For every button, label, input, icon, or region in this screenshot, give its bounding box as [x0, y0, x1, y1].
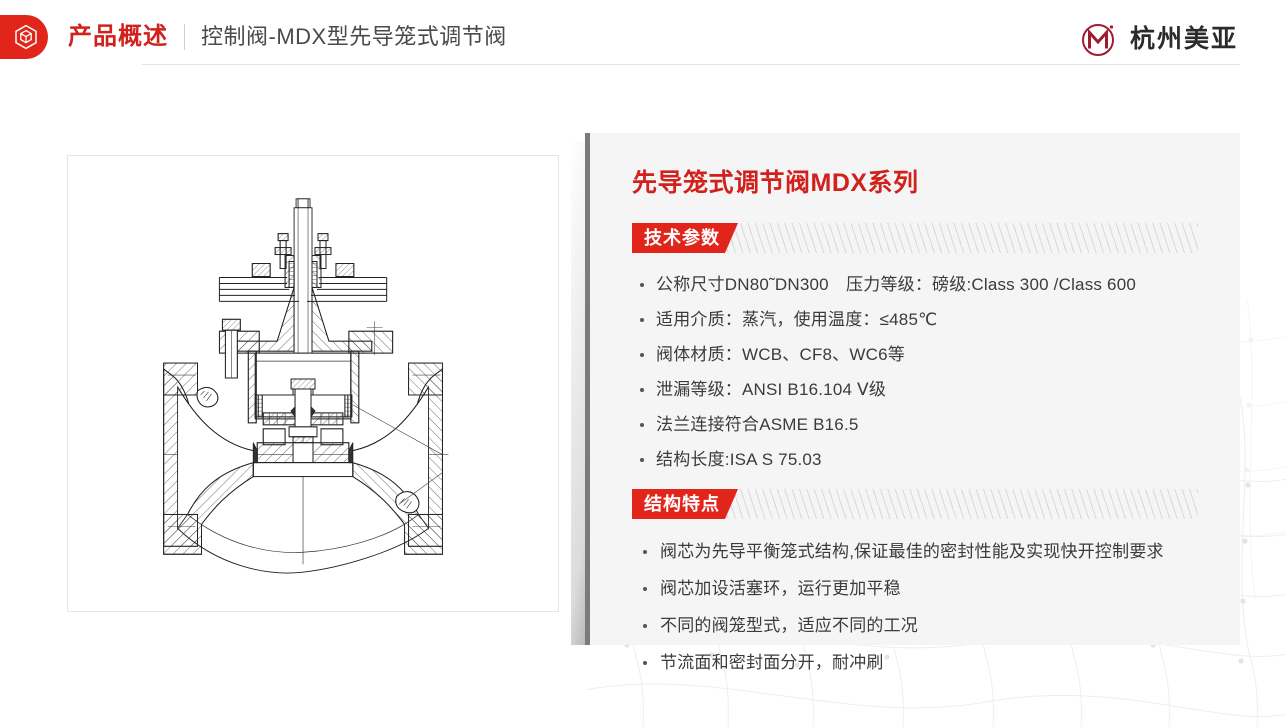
header-rule	[142, 64, 1240, 65]
spec-panel: 先导笼式调节阀MDX系列 技术参数 公称尺寸DN80˜DN300 压力等级：磅级…	[590, 133, 1240, 645]
section-gap	[632, 477, 1240, 489]
list-item: 阀芯加设活塞环，运行更加平稳	[632, 570, 1240, 607]
list-item: 泄漏等级：ANSI B16.104 Ⅴ级	[632, 372, 1240, 407]
list-item: 公称尺寸DN80˜DN300 压力等级：磅级:Class 300 /Class …	[632, 267, 1240, 302]
section-header-technical: 技术参数	[632, 223, 1240, 253]
header-title-group: 产品概述 控制阀-MDX型先导笼式调节阀	[68, 18, 507, 56]
section-header-features: 结构特点	[632, 489, 1240, 519]
technical-spec-list: 公称尺寸DN80˜DN300 压力等级：磅级:Class 300 /Class …	[632, 267, 1240, 477]
list-item: 阀体材质：WCB、CF8、WC6等	[632, 337, 1240, 372]
header-divider	[184, 24, 185, 50]
list-item: 适用介质：蒸汽，使用温度：≤485℃	[632, 302, 1240, 337]
cube-hexagon-icon	[13, 24, 39, 50]
structure-feature-list: 阀芯为先导平衡笼式结构,保证最佳的密封性能及实现快开控制要求 阀芯加设活塞环，运…	[632, 533, 1240, 681]
brand-logo-group: 杭州美亚	[1078, 20, 1238, 58]
brand-name: 杭州美亚	[1130, 20, 1238, 58]
section-tag-features: 结构特点	[632, 489, 738, 519]
section-tag-technical: 技术参数	[632, 223, 738, 253]
page-subtitle: 控制阀-MDX型先导笼式调节阀	[201, 18, 507, 56]
panel-accent-bar	[585, 133, 590, 645]
list-item: 法兰连接符合ASME B16.5	[632, 407, 1240, 442]
panel-title: 先导笼式调节阀MDX系列	[632, 163, 1240, 199]
meiya-m-circle-logo	[1078, 18, 1120, 60]
valve-drawing-frame	[67, 155, 559, 612]
header-badge	[0, 15, 48, 59]
page-title: 产品概述	[68, 18, 168, 56]
list-item: 不同的阀笼型式，适应不同的工况	[632, 607, 1240, 644]
list-item: 节流面和密封面分开，耐冲刷	[632, 644, 1240, 681]
list-item: 阀芯为先导平衡笼式结构,保证最佳的密封性能及实现快开控制要求	[632, 533, 1240, 570]
page-header: 产品概述 控制阀-MDX型先导笼式调节阀 杭州美亚	[0, 0, 1286, 75]
valve-cross-section-drawing	[68, 156, 558, 611]
list-item: 结构长度:ISA S 75.03	[632, 442, 1240, 477]
